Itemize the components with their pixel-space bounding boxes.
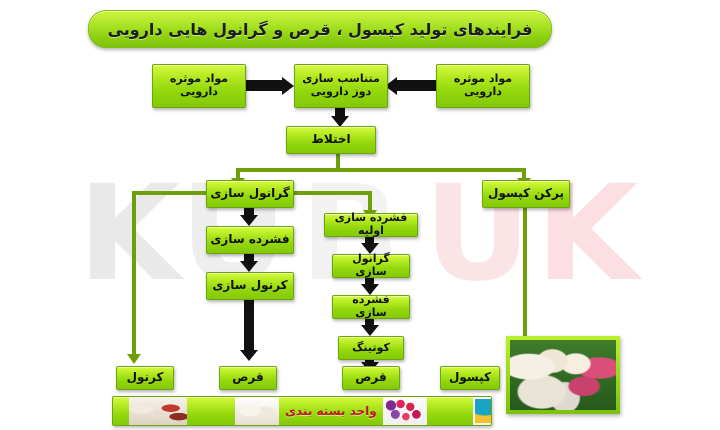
- node-api-right: مواد موثره دارویی: [436, 64, 530, 108]
- arrowhead-granulation-to-kernel-out: [127, 354, 141, 364]
- node-granulation-mid: گرانول سازی: [332, 254, 410, 278]
- chart-title-banner: فرایندهای تولید کپسول ، قرص و گرانول های…: [88, 10, 552, 48]
- node-output-capsule: کپسول: [440, 366, 500, 390]
- arrowhead-api-left-to-dose: [282, 77, 294, 95]
- photo-capsules: [129, 397, 187, 425]
- photo-blister-pack: [473, 397, 492, 425]
- node-compression-mid: فشرده سازی: [332, 295, 410, 319]
- watermark-letter-k1: K: [78, 168, 180, 300]
- distribution-bus: [236, 168, 526, 172]
- connector-api-left-to-dose: [244, 80, 283, 91]
- photo-tablets: [235, 397, 279, 425]
- connector-granulation-to-kernel-out-v: [132, 191, 136, 357]
- strip-spacer-2: [187, 397, 235, 425]
- node-capsule-filler: پرکن کپسول: [482, 180, 570, 208]
- connector-granulation-to-precompression-h: [292, 191, 372, 195]
- photo-pills-and-capsules: [506, 336, 620, 414]
- connector-capsule-filler-to-capsule: [523, 206, 527, 357]
- node-output-tablet-left: قرص: [219, 366, 277, 390]
- photo-pink-pills: [383, 397, 427, 425]
- node-api-left: مواد موثره دارویی: [152, 64, 246, 108]
- strip-spacer-3: [427, 397, 473, 425]
- node-dose-adjustment: متناسب سازی دوز دارویی: [294, 64, 388, 108]
- connector-granulation-to-kernel-out-h: [132, 191, 210, 195]
- flowchart-canvas: K U B U K فرایندهای تولید کپسول ، قرص و …: [0, 0, 720, 430]
- node-precompression: فشرده سازی اولیه: [324, 213, 418, 237]
- connector-kernel-to-tablet-left: [244, 298, 254, 354]
- arrowhead-kernel-to-tablet-left: [240, 350, 258, 361]
- node-granulation-main: گرانول سازی: [206, 180, 294, 208]
- node-coating: کوتینگ: [338, 336, 404, 360]
- strip-spacer-1: [113, 397, 129, 425]
- node-output-tablet-mid: قرص: [342, 366, 400, 390]
- node-compression-left: فشرده سازی: [206, 226, 294, 254]
- node-mixing: اختلاط: [286, 126, 376, 154]
- node-output-kernel: کرنول: [116, 366, 174, 390]
- arrowhead-compression-mid-to-coating: [361, 325, 379, 336]
- arrowhead-compression-to-kernel-left: [240, 261, 258, 272]
- connector-api-right-to-dose: [397, 80, 436, 91]
- packaging-label: واحد بسته بندی: [279, 397, 383, 425]
- packaging-strip: واحد بسته بندی: [112, 396, 492, 426]
- arrowhead-granulation-to-compression-left: [240, 215, 258, 226]
- node-kernel-left: کرنول سازی: [206, 272, 294, 300]
- chart-title: فرایندهای تولید کپسول ، قرص و گرانول های…: [89, 11, 551, 47]
